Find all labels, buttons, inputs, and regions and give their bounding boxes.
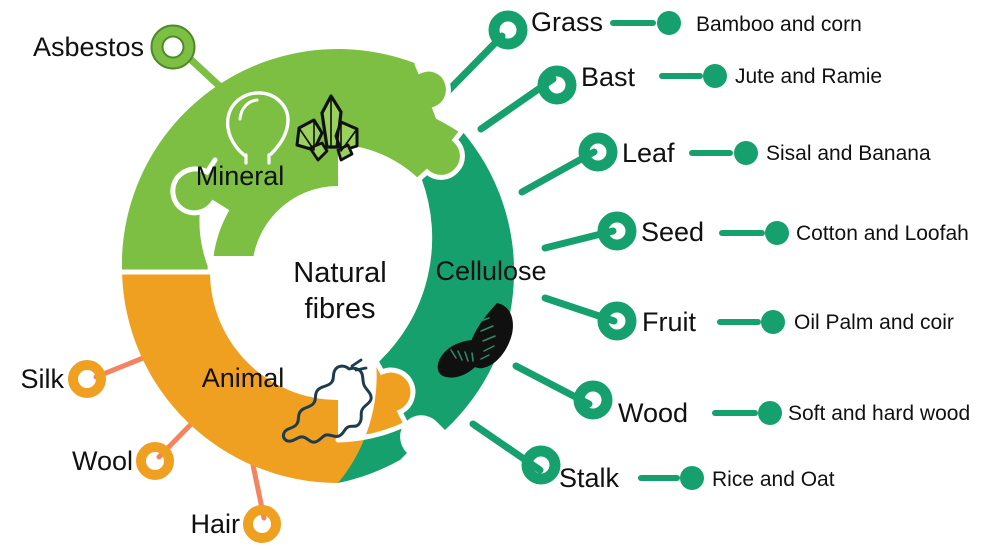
example-label-bast: Jute and Ramie: [735, 65, 882, 88]
branch-label-seed: Seed: [641, 217, 704, 247]
branch-label-bast: Bast: [581, 62, 636, 92]
branch-leaf[interactable]: Leaf Sisal and Banana: [584, 138, 931, 168]
branch-ring-hair[interactable]: [248, 510, 276, 538]
branch-label-wool: Wool: [72, 446, 133, 476]
branch-grass[interactable]: Grass Bamboo and corn: [494, 7, 862, 44]
category-label-mineral: Mineral: [196, 161, 285, 191]
branch-seed[interactable]: Seed Cotton and Loofah: [603, 217, 969, 247]
center-title-line2: fibres: [305, 293, 376, 325]
branch-wood[interactable]: Wood Soft and hard wood: [579, 386, 970, 428]
natural-fibres-diagram: Mineral Cellulose Animal Natural fibres …: [0, 0, 995, 549]
branch-hair[interactable]: Hair: [190, 509, 276, 539]
diagram-canvas: Mineral Cellulose Animal Natural fibres …: [0, 0, 995, 549]
example-label-grass: Bamboo and corn: [696, 13, 862, 36]
category-label-cellulose: Cellulose: [435, 256, 546, 286]
branch-silk[interactable]: Silk: [20, 364, 101, 394]
example-label-seed: Cotton and Loofah: [796, 222, 969, 245]
branch-ring-seed[interactable]: [603, 217, 631, 245]
example-dot-seed: [765, 221, 789, 245]
example-label-wood: Soft and hard wood: [788, 402, 970, 425]
branch-label-leaf: Leaf: [622, 138, 675, 168]
example-dot-fruit: [761, 310, 785, 334]
branch-ring-bast[interactable]: [543, 71, 571, 99]
branch-fruit[interactable]: Fruit Oil Palm and coir: [603, 307, 954, 337]
example-dot-leaf: [734, 141, 758, 165]
branch-label-fruit: Fruit: [642, 307, 696, 337]
branch-label-grass: Grass: [531, 7, 603, 37]
example-dot-bast: [703, 64, 727, 88]
branch-ring-grass[interactable]: [494, 16, 522, 44]
branch-asbestos[interactable]: Asbestos: [33, 26, 195, 69]
category-label-animal: Animal: [202, 363, 285, 393]
example-label-leaf: Sisal and Banana: [766, 142, 931, 165]
branch-ring-wood[interactable]: [579, 386, 607, 414]
branch-ring-inner-outline-asbestos: [163, 37, 184, 58]
branch-ring-wool[interactable]: [141, 447, 169, 475]
example-dot-wood: [758, 401, 782, 425]
branch-ring-leaf[interactable]: [584, 138, 612, 166]
example-label-stalk: Rice and Oat: [712, 468, 835, 491]
branch-label-silk: Silk: [20, 364, 64, 394]
branch-ring-silk[interactable]: [73, 365, 101, 393]
connector-line-grass: [447, 36, 502, 92]
center-title-line1: Natural: [293, 257, 387, 289]
branch-stalk[interactable]: Stalk Rice and Oat: [527, 451, 835, 493]
branch-ring-stalk[interactable]: [527, 451, 555, 479]
example-label-fruit: Oil Palm and coir: [794, 311, 954, 334]
example-dot-stalk: [680, 466, 704, 490]
branch-bast[interactable]: Bast Jute and Ramie: [543, 62, 882, 99]
branch-label-stalk: Stalk: [559, 463, 620, 493]
branch-label-asbestos: Asbestos: [33, 32, 144, 62]
branch-label-wood: Wood: [618, 398, 688, 428]
branch-label-hair: Hair: [190, 509, 240, 539]
branch-wool[interactable]: Wool: [72, 446, 169, 476]
example-dot-grass: [657, 11, 681, 35]
